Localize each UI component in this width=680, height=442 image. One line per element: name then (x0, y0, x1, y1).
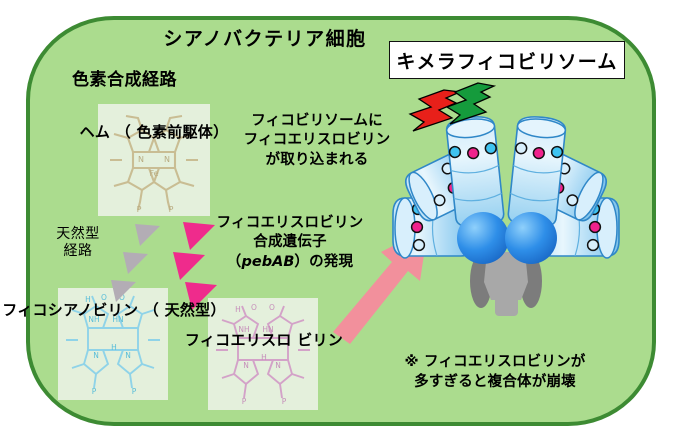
svg-text:P: P (132, 387, 137, 396)
svg-text:O: O (269, 303, 275, 312)
svg-text:P: P (282, 397, 287, 406)
title-box-label: キメラフィコビリソーム (396, 47, 617, 74)
svg-text:HN: HN (262, 325, 273, 334)
svg-text:Fe: Fe (149, 169, 158, 178)
gene-line-2: 合成遺伝子 (253, 234, 327, 250)
phycocyanobilin-structure-box: HOO NHHN NHN PP (58, 288, 168, 400)
svg-text:P: P (242, 397, 247, 406)
svg-text:NH: NH (88, 315, 99, 324)
phycoerythrobilin-structure-box: HOO NHHN NHN PP (208, 298, 318, 410)
svg-text:N: N (275, 361, 281, 370)
svg-text:O: O (251, 303, 257, 312)
uptake-description-label: フィコビリソームに フィコエリスロビリン が取り込まれる (234, 112, 400, 170)
natural-pathway-label: 天然型 経路 (38, 226, 118, 260)
collapse-note-label: ※ フィコエリスロビリンが 多すぎると複合体が崩壊 (360, 352, 630, 393)
svg-text:N: N (164, 155, 170, 164)
peb-gene-expression-label: フィコエリスロビリン 合成遺伝子 （pebAB）の発現 (200, 214, 380, 272)
svg-text:H: H (111, 343, 117, 352)
svg-text:N: N (243, 361, 249, 370)
cell-title-label: シアノバクテリア細胞 (150, 28, 380, 51)
svg-text:P: P (169, 205, 174, 214)
gene-line-3-post: ）の発現 (294, 254, 353, 270)
svg-text:O: O (119, 293, 125, 302)
svg-text:N: N (138, 155, 144, 164)
gene-name-italic: pebAB (242, 254, 295, 270)
svg-text:N: N (125, 351, 131, 360)
svg-text:HN: HN (112, 315, 123, 324)
svg-text:N: N (93, 351, 99, 360)
svg-text:NH: NH (238, 325, 249, 334)
svg-text:O: O (101, 293, 107, 302)
gene-line-1: フィコエリスロビリン (217, 215, 364, 231)
gene-line-3-pre: （ (227, 254, 242, 270)
svg-text:H: H (235, 305, 241, 314)
svg-text:P: P (137, 205, 142, 214)
svg-text:H: H (261, 353, 267, 362)
heme-structure-box: NN Fe PP (98, 104, 210, 216)
diagram-canvas: NN Fe PP HOO NHHN NHN PP (0, 0, 680, 442)
svg-text:P: P (92, 387, 97, 396)
svg-text:H: H (85, 295, 91, 304)
chimeric-phycobilisome-title-box: キメラフィコビリソーム (389, 41, 625, 79)
pigment-pathway-title: 色素合成経路 (72, 70, 177, 91)
